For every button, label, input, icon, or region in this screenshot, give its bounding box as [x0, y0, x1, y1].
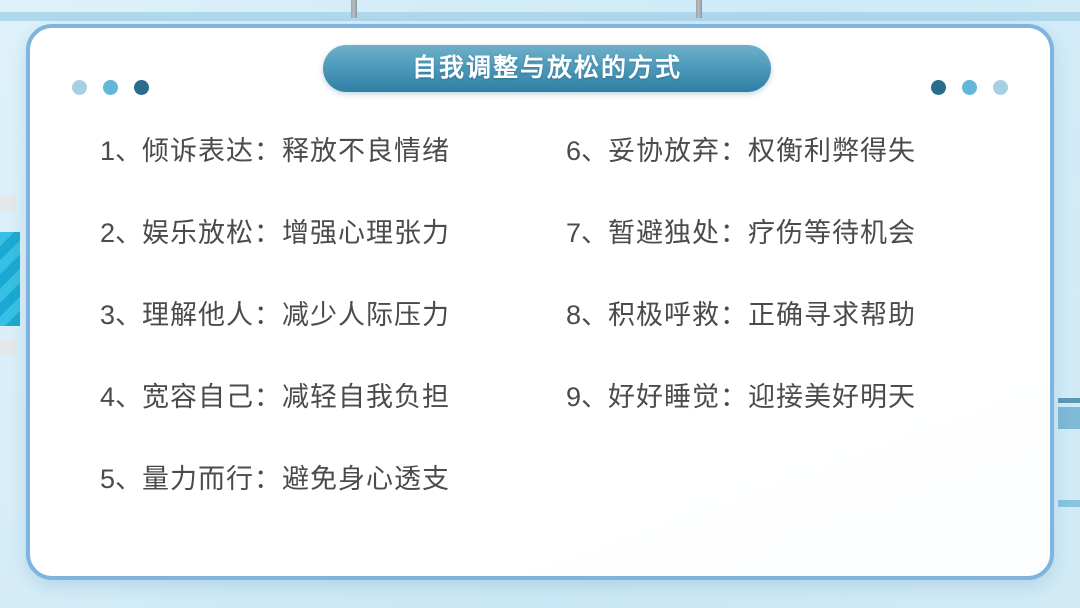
list-item-index: 2、 — [100, 220, 142, 247]
list-item: 7、 暂避独处：疗伤等待机会 — [566, 220, 1058, 302]
list-item: 1、 倾诉表达：释放不良情绪 — [100, 138, 530, 220]
list-item-index: 8、 — [566, 302, 608, 329]
tips-column-right: 6、 妥协放弃：权衡利弊得失 7、 暂避独处：疗伤等待机会 8、 积极呼救：正确… — [530, 118, 1058, 578]
slide-canvas: 自我调整与放松的方式 1、 倾诉表达：释放不良情绪 2、 娱乐放松：增强心理张力… — [0, 0, 1080, 608]
list-item-index: 5、 — [100, 466, 142, 493]
page-title: 自我调整与放松的方式 — [412, 56, 682, 81]
dot-left-3 — [134, 80, 149, 95]
dot-left-1 — [72, 80, 87, 95]
dot-left-2 — [103, 80, 118, 95]
right-edge-mark-top — [1058, 398, 1080, 403]
list-item-text: 积极呼救：正确寻求帮助 — [608, 302, 916, 329]
dot-right-3 — [993, 80, 1008, 95]
list-item-index: 7、 — [566, 220, 608, 247]
list-item-text: 暂避独处：疗伤等待机会 — [608, 220, 916, 247]
list-item-text: 宽容自己：减轻自我负担 — [142, 384, 450, 411]
list-item: 5、 量力而行：避免身心透支 — [100, 466, 530, 548]
dot-group-left — [72, 80, 149, 95]
title-banner: 自我调整与放松的方式 — [323, 45, 771, 92]
list-item-text: 好好睡觉：迎接美好明天 — [608, 384, 916, 411]
dot-group-right — [931, 80, 1008, 95]
list-item-index: 1、 — [100, 138, 142, 165]
list-item: 6、 妥协放弃：权衡利弊得失 — [566, 138, 1058, 220]
tips-list: 1、 倾诉表达：释放不良情绪 2、 娱乐放松：增强心理张力 3、 理解他人：减少… — [30, 118, 1058, 578]
left-edge-block-upper — [0, 196, 16, 212]
list-item: 4、 宽容自己：减轻自我负担 — [100, 384, 530, 466]
list-item: 8、 积极呼救：正确寻求帮助 — [566, 302, 1058, 384]
list-item-text: 娱乐放松：增强心理张力 — [142, 220, 450, 247]
content-card: 自我调整与放松的方式 1、 倾诉表达：释放不良情绪 2、 娱乐放松：增强心理张力… — [26, 24, 1054, 580]
list-item-index: 4、 — [100, 384, 142, 411]
background-top-band — [0, 12, 1080, 21]
list-item-text: 理解他人：减少人际压力 — [142, 302, 450, 329]
list-item-text: 妥协放弃：权衡利弊得失 — [608, 138, 916, 165]
list-item: 2、 娱乐放松：增强心理张力 — [100, 220, 530, 302]
right-edge-mark-middle — [1058, 407, 1080, 429]
list-item: 9、 好好睡觉：迎接美好明天 — [566, 384, 1058, 466]
left-edge-stripe-decoration — [0, 232, 20, 326]
list-item: 3、 理解他人：减少人际压力 — [100, 302, 530, 384]
list-item-index: 6、 — [566, 138, 608, 165]
top-tick-mark-right — [696, 0, 702, 18]
list-item-index: 3、 — [100, 302, 142, 329]
left-edge-block-lower — [0, 340, 16, 356]
top-tick-mark-left — [351, 0, 357, 18]
tips-column-left: 1、 倾诉表达：释放不良情绪 2、 娱乐放松：增强心理张力 3、 理解他人：减少… — [30, 118, 530, 578]
dot-right-2 — [962, 80, 977, 95]
right-edge-mark-bottom — [1058, 500, 1080, 507]
list-item-index: 9、 — [566, 384, 608, 411]
list-item-text: 倾诉表达：释放不良情绪 — [142, 138, 450, 165]
dot-right-1 — [931, 80, 946, 95]
list-item-text: 量力而行：避免身心透支 — [142, 466, 450, 493]
